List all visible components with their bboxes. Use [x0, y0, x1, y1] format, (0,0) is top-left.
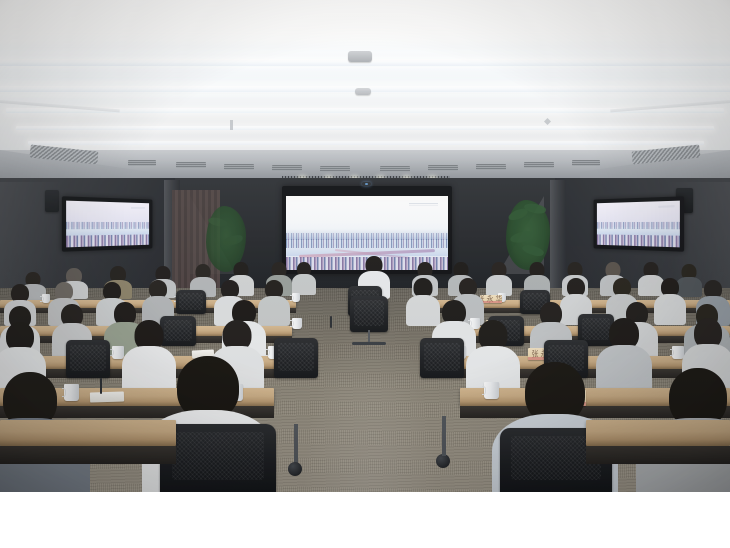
chair-mesh [172, 432, 265, 480]
air-diffuser [380, 166, 410, 172]
loudspeaker [45, 190, 59, 212]
office-chair [274, 338, 318, 378]
smoke-detector [348, 51, 372, 62]
chair-mesh [179, 293, 203, 310]
air-diffuser [320, 166, 350, 172]
air-diffuser [272, 165, 302, 171]
chair-mesh [354, 300, 384, 325]
bottom-margin [0, 492, 730, 548]
screen-skyline-mid [286, 239, 448, 248]
office-chair [420, 338, 464, 378]
air-diffuser [224, 164, 254, 170]
plant-leaf [521, 243, 545, 259]
led-strip [28, 141, 704, 145]
chair-mesh [70, 345, 105, 372]
plant-leaf [509, 230, 534, 244]
conference-room-photo: 张永华 [0, 0, 730, 492]
chair-mesh [278, 343, 313, 371]
seated-attendee [292, 262, 316, 294]
desk-microphone [330, 316, 332, 328]
plant-leaf [221, 234, 244, 248]
teacup [292, 318, 302, 329]
teacup [292, 293, 300, 302]
seated-attendee [486, 262, 512, 295]
table-edge [0, 446, 176, 464]
air-diffuser [476, 164, 506, 170]
chair-base [352, 342, 386, 345]
air-diffuser [176, 162, 206, 168]
air-diffuser [524, 162, 554, 168]
air-diffuser [128, 160, 156, 166]
chair-caster [288, 462, 302, 476]
chair-mesh [424, 343, 459, 371]
screen-watermark [409, 201, 438, 207]
right-side-display[interactable] [597, 201, 680, 248]
handout [90, 391, 124, 402]
air-diffuser [572, 160, 600, 166]
ceiling-fitting [544, 118, 551, 125]
chair-caster [436, 454, 450, 468]
office-chair [176, 290, 206, 314]
ceiling-fitting [230, 120, 233, 130]
attendee-body [292, 274, 316, 295]
conference-camera-icon [362, 182, 371, 186]
air-diffuser [428, 165, 458, 171]
screenshot-root: 张永华 [0, 0, 730, 548]
conference-table [0, 420, 176, 446]
table-edge [586, 446, 730, 464]
desk-microphone [100, 378, 102, 394]
left-side-display[interactable] [66, 201, 149, 248]
office-chair [160, 424, 276, 492]
screen-watermark [658, 204, 674, 208]
smoke-detector [355, 88, 371, 95]
conference-table [586, 420, 730, 446]
chair-column [442, 416, 446, 456]
plant-leaf [207, 216, 227, 229]
led-strip [16, 126, 714, 130]
screen-watermark [131, 206, 145, 210]
chair-column [294, 424, 298, 464]
presenter-chair [350, 296, 388, 332]
